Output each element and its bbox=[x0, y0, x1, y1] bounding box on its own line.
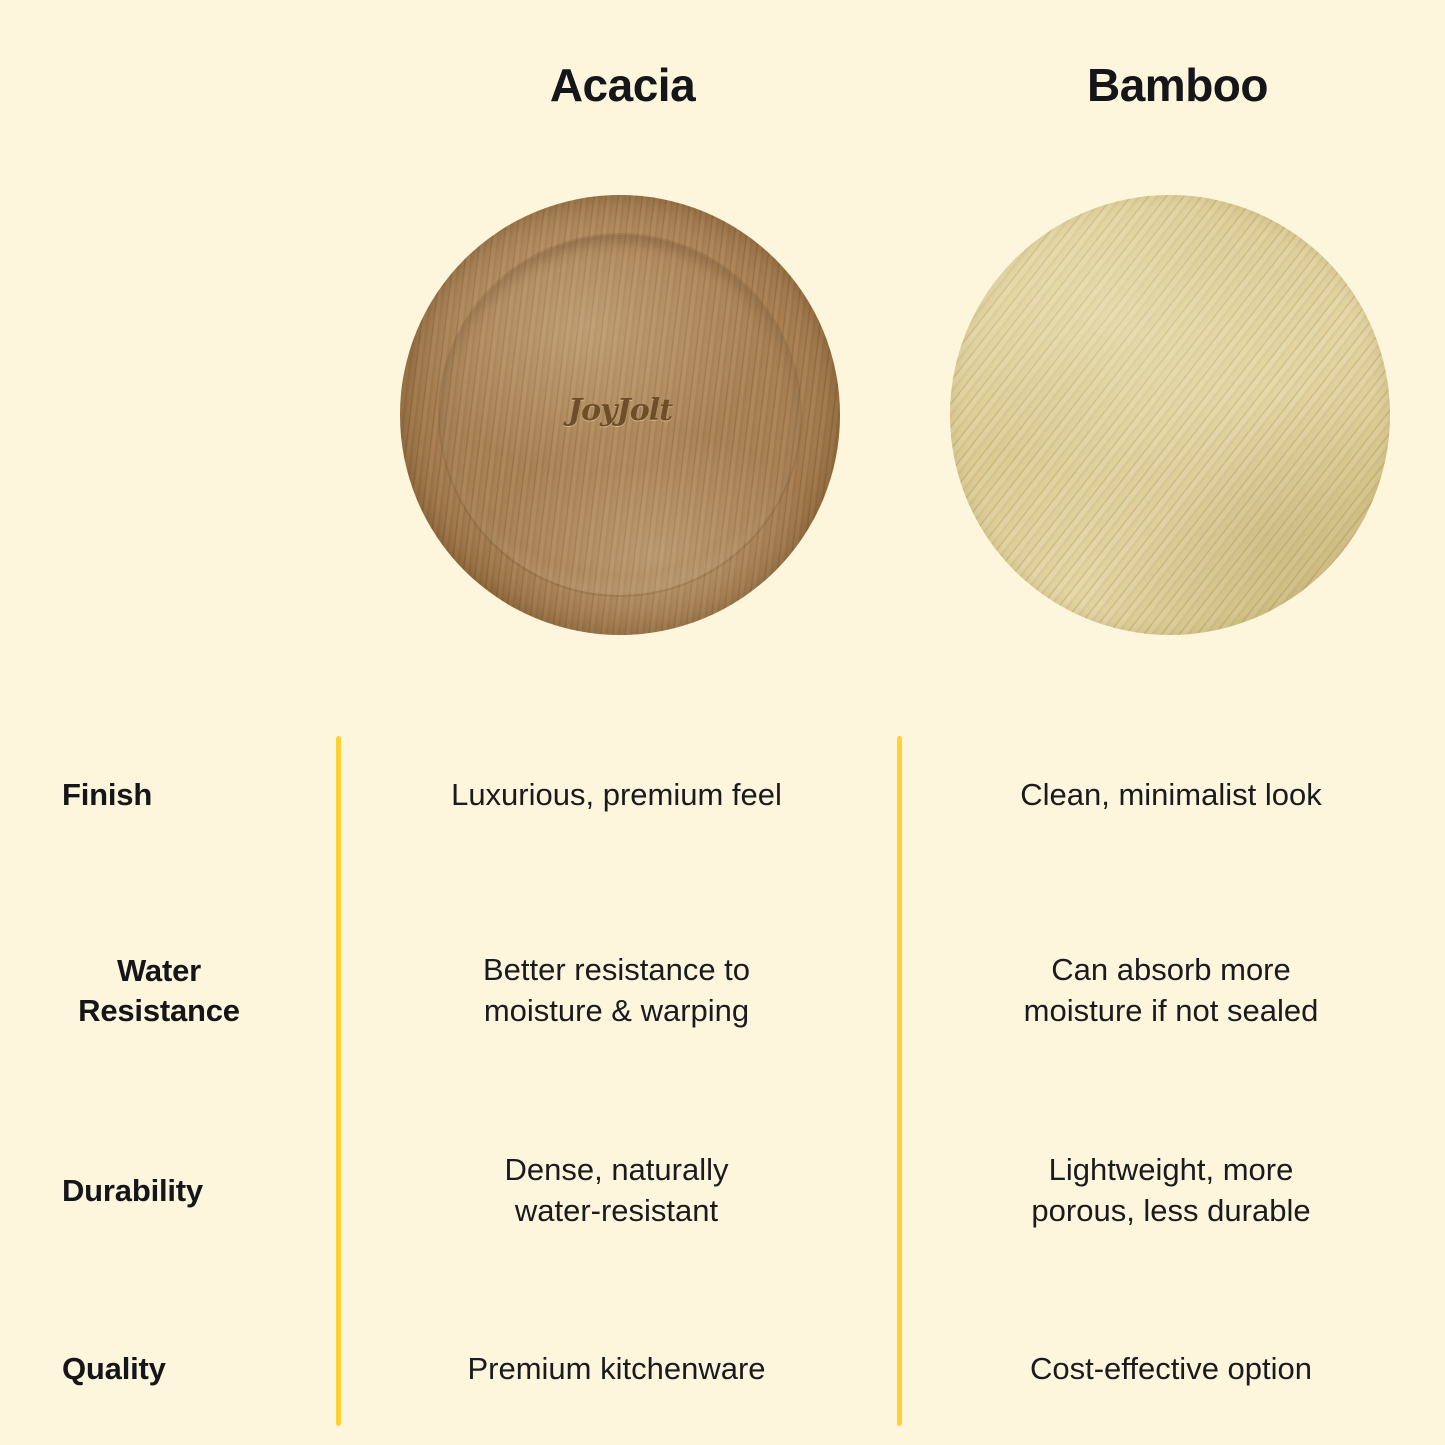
cell-acacia-durability: Dense, naturally water-resistant bbox=[336, 1150, 897, 1232]
table-row: Durability Dense, naturally water-resist… bbox=[0, 1126, 1445, 1256]
cell-bamboo-durability: Lightweight, more porous, less durable bbox=[897, 1150, 1445, 1232]
column-header-bamboo: Bamboo bbox=[900, 58, 1445, 112]
cell-bamboo-quality: Cost-effective option bbox=[897, 1349, 1445, 1390]
row-label-line2: Resistance bbox=[0, 991, 318, 1031]
cell-bamboo-finish: Clean, minimalist look bbox=[897, 775, 1445, 816]
table-row: Finish Luxurious, premium feel Clean, mi… bbox=[0, 740, 1445, 850]
cell-acacia-finish: Luxurious, premium feel bbox=[336, 775, 897, 816]
bamboo-plate-image bbox=[950, 195, 1390, 635]
table-row: Water Resistance Better resistance to mo… bbox=[0, 926, 1445, 1056]
acacia-plate-image: JoyJolt bbox=[400, 195, 840, 635]
acacia-plate-graphic: JoyJolt bbox=[400, 195, 840, 635]
row-label-line1: Water bbox=[0, 951, 318, 991]
cell-line1: Lightweight, more bbox=[923, 1150, 1419, 1191]
row-label-water-resistance: Water Resistance bbox=[0, 951, 336, 1030]
cell-line1: Can absorb more bbox=[923, 950, 1419, 991]
cell-line1: Better resistance to bbox=[362, 950, 871, 991]
cell-line2: moisture & warping bbox=[362, 991, 871, 1032]
row-label-durability: Durability bbox=[0, 1171, 336, 1211]
bamboo-plate-graphic bbox=[950, 195, 1390, 635]
row-label-quality: Quality bbox=[0, 1349, 336, 1389]
cell-line1: Dense, naturally bbox=[362, 1150, 871, 1191]
cell-line2: moisture if not sealed bbox=[923, 991, 1419, 1032]
row-label-finish: Finish bbox=[0, 775, 336, 815]
cell-bamboo-water-resistance: Can absorb more moisture if not sealed bbox=[897, 950, 1445, 1032]
comparison-table: Finish Luxurious, premium feel Clean, mi… bbox=[0, 718, 1445, 1445]
column-header-acacia: Acacia bbox=[345, 58, 900, 112]
cell-acacia-quality: Premium kitchenware bbox=[336, 1349, 897, 1390]
cell-line2: water-resistant bbox=[362, 1191, 871, 1232]
cell-line2: porous, less durable bbox=[923, 1191, 1419, 1232]
acacia-plate-highlight bbox=[400, 195, 840, 635]
comparison-infographic: Acacia Bamboo JoyJolt Finish Luxurious, … bbox=[0, 0, 1445, 1445]
table-row: Quality Premium kitchenware Cost-effecti… bbox=[0, 1314, 1445, 1424]
joyjolt-logo: JoyJolt bbox=[400, 393, 840, 428]
cell-acacia-water-resistance: Better resistance to moisture & warping bbox=[336, 950, 897, 1032]
